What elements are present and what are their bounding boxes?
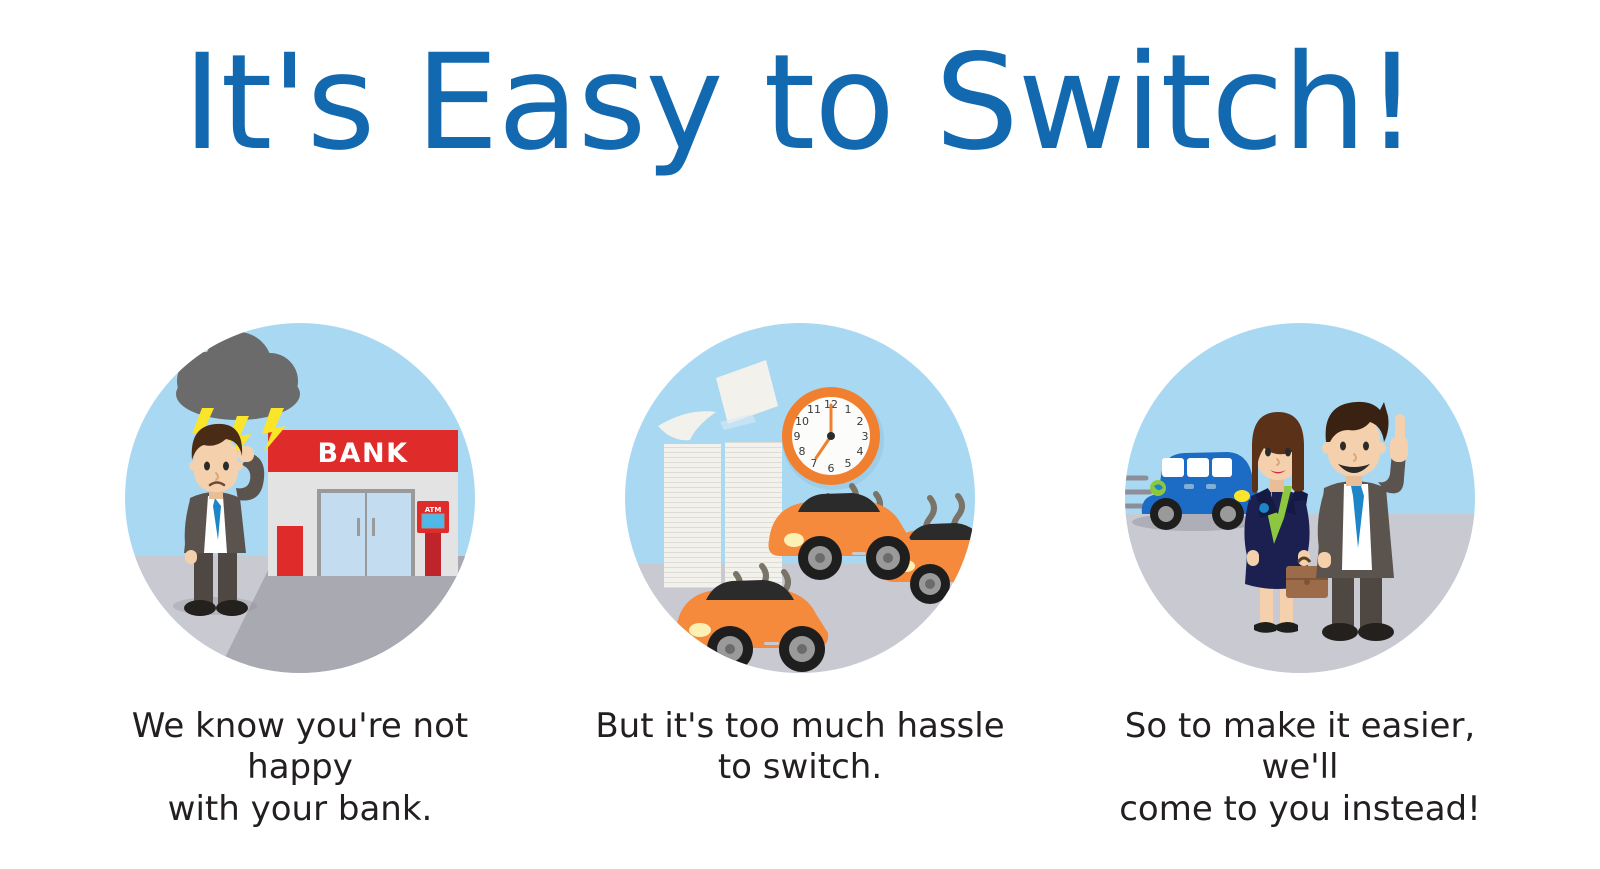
man-ear-right <box>233 461 243 471</box>
illustration-traffic-jam-paperwork-and-clock: 12 1 2 3 4 5 6 7 8 9 10 <box>620 318 980 678</box>
panel-unhappy-bank: BANK ATM <box>90 318 510 830</box>
atm-screen <box>422 514 444 528</box>
man2-pointing-finger <box>1395 414 1405 444</box>
svg-text:4: 4 <box>857 445 864 458</box>
svg-text:6: 6 <box>828 462 835 475</box>
panel-caption: But it's too much hassle to switch. <box>595 706 1004 789</box>
paper-stack-right <box>725 442 782 588</box>
svg-text:10: 10 <box>795 415 809 428</box>
slide-root: It's Easy to Switch! <box>0 0 1600 869</box>
panel-hassle-switch: 12 1 2 3 4 5 6 7 8 9 10 <box>590 318 1010 830</box>
door-handle-right <box>372 518 375 536</box>
panel-row: BANK ATM <box>0 318 1600 830</box>
clock-center-pin <box>827 432 835 440</box>
bank-red-panel <box>277 526 303 576</box>
svg-text:3: 3 <box>862 430 869 443</box>
bank-sign-text: BANK <box>318 438 409 469</box>
svg-text:8: 8 <box>799 445 806 458</box>
svg-text:9: 9 <box>794 430 801 443</box>
paper-stack-left <box>664 444 721 588</box>
atm-post <box>425 526 441 576</box>
panel-come-to-you: So to make it easier, we'll come to you … <box>1090 318 1510 830</box>
panel-caption: We know you're not happy with your bank. <box>90 706 510 830</box>
illustration-man-with-storm-cloud-outside-bank: BANK ATM <box>120 318 480 678</box>
car-headlight <box>1234 490 1250 502</box>
man-shoe-right <box>216 600 248 616</box>
man-shoe-left <box>184 600 216 616</box>
atm-label-text: ATM <box>425 506 442 514</box>
door-handle-left <box>357 518 360 536</box>
man-hand-left <box>185 550 197 564</box>
man-eye-right <box>223 462 229 471</box>
illustration-two-bank-advisors-with-car <box>1120 318 1480 678</box>
woman-badge <box>1259 503 1269 513</box>
svg-text:11: 11 <box>807 403 821 416</box>
man-eye-left <box>204 462 210 471</box>
svg-text:2: 2 <box>857 415 864 428</box>
page-title: It's Easy to Switch! <box>0 34 1600 173</box>
man-ear-left <box>189 461 199 471</box>
svg-text:1: 1 <box>845 403 852 416</box>
man-leg-right <box>218 546 237 604</box>
svg-text:5: 5 <box>845 457 852 470</box>
panel-caption: So to make it easier, we'll come to you … <box>1090 706 1510 830</box>
